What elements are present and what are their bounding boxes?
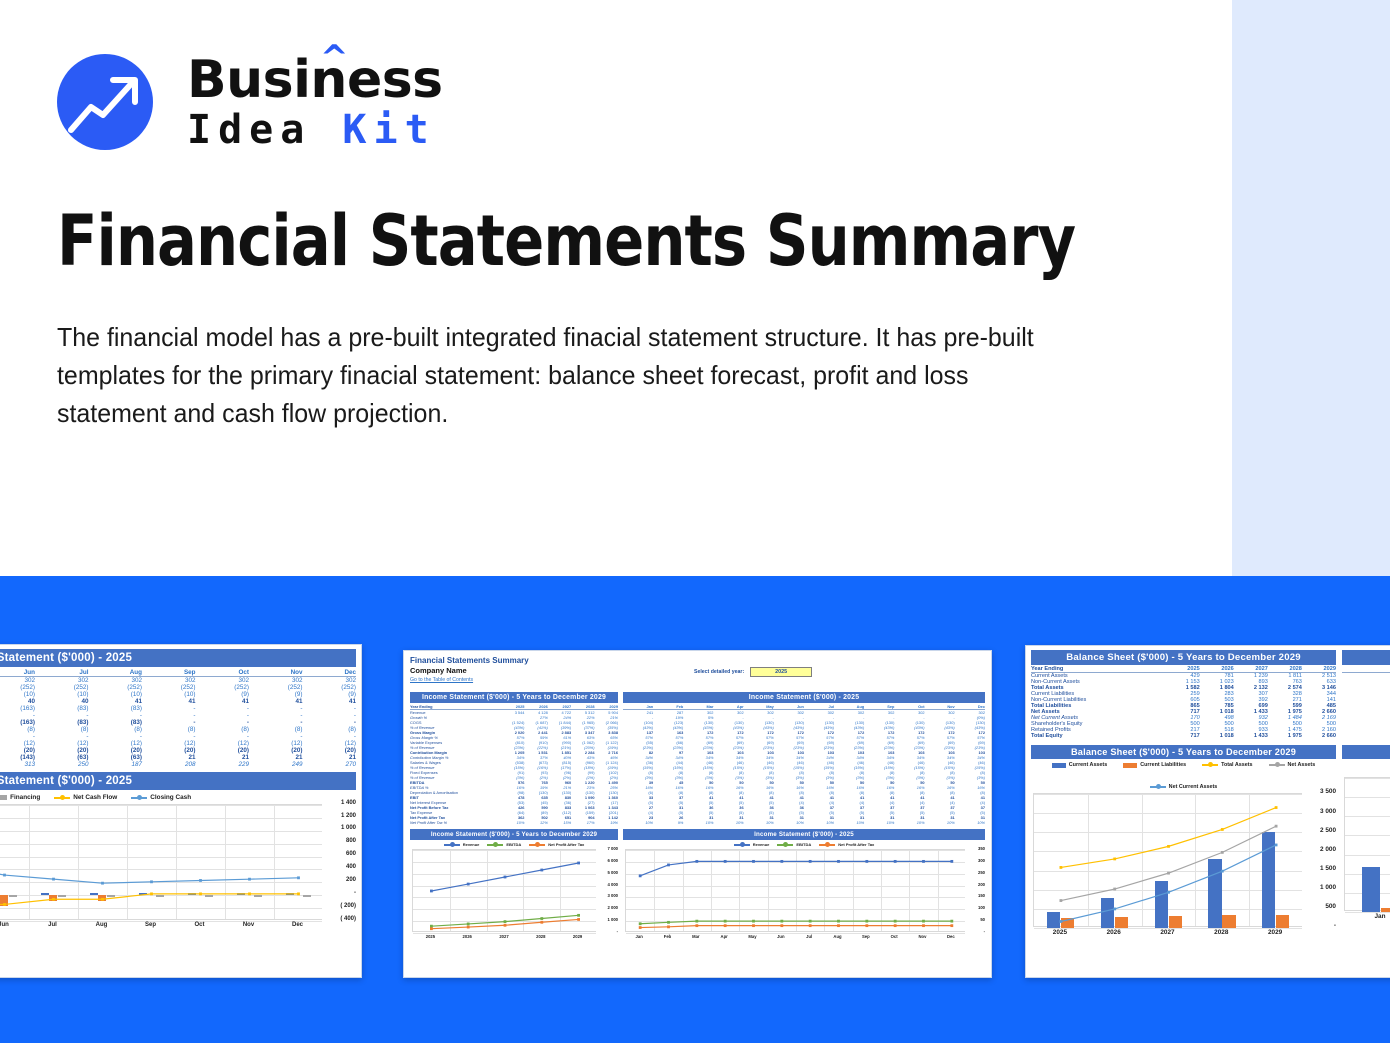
legend-item: Current Liabilities [1123,762,1186,768]
table-row: 456313250187208229249270 [0,761,356,768]
table-cell: 10% [501,820,524,825]
table-cell: 10% [955,820,985,825]
table-cell: (9) [249,691,303,698]
table-cell: (143) [0,754,35,761]
year-selector-label: Select detailed year: [694,669,744,675]
chart-x-tick: Jul [795,934,823,939]
page-description: The financial model has a pre-built inte… [57,318,1055,432]
table-header-cell: Sep [142,669,196,677]
table-cell: 10% [925,820,955,825]
legend-item: Net Profit After Tax [819,842,874,847]
table-cell: (163) [0,705,35,712]
chart-y-tick: 3 000 [599,893,618,898]
table-cell: - [0,712,35,719]
chart-x-tick: 2026 [1087,929,1141,936]
chart-x-tick: Jun [767,934,795,939]
table-cell: 1 975 [1268,733,1302,739]
chart-y-tick: 1 200 [325,813,356,819]
table-cell: (252) [89,684,143,691]
table-row: (21)(20)(20)(20)(20)(20)(20)(20) [0,747,356,754]
table-cell: - [303,733,357,740]
legend-label: Net Profit After Tax [548,842,584,847]
chart-y-tick: 50 [968,917,985,922]
brand-word-idea: Idea [187,107,311,153]
table-cell: 17% [571,820,594,825]
chart-plot-area [412,849,596,932]
chart-x-tick: 2029 [1248,929,1302,936]
table-cell: 10% [683,820,713,825]
legend-label: Revenue [753,842,770,847]
chart-y-tick: ( 400) [325,916,356,922]
table-header-cell: Jun [0,669,35,677]
legend-item: Net Assets [1269,762,1316,768]
legend-swatch [1269,764,1285,766]
table-cell: (9) [303,691,357,698]
legend-item: Total Assets [1202,762,1252,768]
table-cell: (12) [35,740,89,747]
chart-y-tick: 3 000 [1305,808,1336,815]
hero-section: Business ^ Idea Kit Financial Statements… [0,0,1390,576]
table-cell: (20) [35,747,89,754]
table-cell: (12) [249,740,303,747]
table-cell: (83) [35,705,89,712]
chart-y-tick: - [325,890,356,896]
legend-item: Net Cash Flow [54,794,117,801]
table-row: (13)(12)(12)(12)(12)(12)(12)(12) [0,740,356,747]
chart-y-tick: 200 [325,877,356,883]
table-row: 4340404141414141 [0,698,356,705]
cash-flow-chart: 1 4001 2001 000800600400200-( 200)( 400)… [0,804,356,936]
legend-item: EBITDA [487,842,521,847]
table-cell: (20) [142,747,196,754]
table-header-cell: Nov [249,669,303,677]
table-cell: 19% [595,820,618,825]
table-cell: 21 [196,754,250,761]
table-row: Net Profit After Tax %10%12%15%17%19% [410,820,618,825]
table-cell: 21 [249,754,303,761]
cash-flow-chart-legend: InvestingFinancingNet Cash FlowClosing C… [0,794,356,801]
chart-y-tick: 800 [325,838,356,844]
chart-x-tick: 2027 [1141,929,1195,936]
chart-y-tick: 1 000 [1305,884,1336,891]
table-cell: 10% [894,820,924,825]
table-cell: 21 [142,754,196,761]
year-selector-input[interactable]: 2025 [750,667,812,677]
row-label: Net Profit After Tax % [410,820,501,825]
balance-sheet-table: Year Ending20252026202720282029Current A… [1031,666,1336,739]
legend-item: Net Current Assets [1150,784,1218,790]
table-cell: 229 [196,761,250,768]
table-cell: 313 [0,761,35,768]
balance-sheet-side-chart: Jan [1342,777,1390,927]
chart-x-tick: Sep [126,922,175,928]
table-cell: 40 [35,698,89,705]
legend-swatch [1202,764,1218,766]
income-monthly-chart-legend: RevenueEBITDANet Profit After Tax [623,842,985,847]
balance-sheet-chart: 3 5003 0002 5002 0001 5001 000500-202520… [1031,793,1336,943]
table-cell: - [249,733,303,740]
table-row: 302302302302302302302302 [0,677,356,685]
chart-x-tick: Mar [682,934,710,939]
chart-y-tick: 100 [968,905,985,910]
table-cell: (83) [35,719,89,726]
brand-circumflex-icon: ^ [320,41,348,75]
chart-x-tick: Jan [1344,913,1390,920]
table-cell: (10) [142,691,196,698]
legend-swatch [487,844,503,846]
table-cell: 302 [35,677,89,685]
table-cell: (63) [89,754,143,761]
income-annual-chart: 7 0006 0005 0004 0003 0002 0001 000-2025… [410,849,618,944]
chart-y-tick: 5 000 [599,870,618,875]
chart-plot-area [1344,777,1390,911]
table-cell: 41 [249,698,303,705]
table-cell: (8) [35,726,89,733]
legend-item: EBITDA [777,842,811,847]
hero-accent-panel [1232,0,1390,576]
chart-x-tick: Oct [175,922,224,928]
legend-item: Revenue [734,842,770,847]
table-header-row: MayJunJulAugSepOctNovDec [0,669,356,677]
table-cell: - [142,733,196,740]
income-monthly-chart: 35030025020015010050-JanFebMarAprMayJunJ… [623,849,985,944]
table-cell: - [196,712,250,719]
table-row: -------- [0,712,356,719]
table-cell: 302 [249,677,303,685]
legend-label: EBITDA [506,842,521,847]
table-row: 512 [1342,733,1390,739]
slide-root: Business ^ Idea Kit Financial Statements… [0,0,1390,1043]
table-cell: (252) [196,684,250,691]
table-cell: (12) [196,740,250,747]
legend-swatch [1123,763,1137,768]
table-cell: - [0,733,35,740]
balance-sheet-chart-title: Balance Sheet ($'000) - 5 Years to Decem… [1031,745,1336,759]
income-annual-chart-title: Income Statement ($'000) - 5 Years to De… [410,829,618,840]
table-cell: - [303,719,357,726]
legend-swatch [54,797,70,799]
table-cell: 187 [89,761,143,768]
table-cell: (83) [89,719,143,726]
table-cell: (83) [89,705,143,712]
chart-y-tick: 2 000 [599,905,618,910]
chart-x-tick: 2025 [412,934,449,939]
table-cell: (8) [303,726,357,733]
table-cell: 512 [1342,733,1390,739]
chart-y-tick: 600 [325,851,356,857]
chart-y-tick: 2 500 [1305,827,1336,834]
legend-swatch [529,844,545,846]
table-cell: 40 [0,698,35,705]
table-cell: (20) [303,747,357,754]
table-cell: - [142,712,196,719]
table-header-cell: Jul [35,669,89,677]
table-cell: (20) [0,747,35,754]
brand-logo: Business ^ Idea Kit [57,54,443,150]
table-cell: 10% [834,820,864,825]
chart-y-tick: 4 000 [599,882,618,887]
table-cell: 15% [548,820,571,825]
growth-arrow-icon [57,54,153,150]
chart-x-tick: Feb [653,934,681,939]
table-cell: 302 [142,677,196,685]
table-cell: 10% [744,820,774,825]
legend-label: Net Assets [1288,762,1316,768]
table-cell: 2 660 [1302,733,1336,739]
table-cell: (8) [249,726,303,733]
chart-y-tick: - [968,929,985,934]
table-cell: 302 [89,677,143,685]
table-cell: (163) [0,719,35,726]
legend-item: Current Assets [1052,762,1107,768]
legend-label: Net Current Assets [1169,784,1218,790]
legend-label: Total Assets [1221,762,1252,768]
chart-x-tick: Aug [823,934,851,939]
chart-y-tick: 400 [325,864,356,870]
table-cell: - [35,712,89,719]
table-cell: 270 [303,761,357,768]
brand-name-top: Business ^ [187,54,443,106]
legend-label: Financing [10,794,40,801]
chart-y-tick: 200 [968,882,985,887]
legend-swatch [444,844,460,846]
screenshot-financial-summary[interactable]: Financial Statements Summary Company Nam… [403,650,992,978]
table-cell: (252) [0,684,35,691]
table-of-contents-link[interactable]: Go to the Table of Contents [410,677,985,683]
legend-swatch [734,844,750,846]
chart-y-tick: 1 400 [325,800,356,806]
chart-x-tick: Aug [77,922,126,928]
table-cell: 208 [142,761,196,768]
legend-label: Net Cash Flow [73,794,117,801]
chart-y-tick: 500 [1305,903,1336,910]
chart-y-tick: 2 000 [1305,846,1336,853]
table-header-cell: Dec [303,669,357,677]
table-cell: 10% [713,820,743,825]
chart-y-tick: ( 200) [325,903,356,909]
chart-x-tick: Apr [710,934,738,939]
chart-x-tick: Jan [625,934,653,939]
table-cell: - [142,705,196,712]
table-header-cell: Oct [196,669,250,677]
table-cell: 302 [303,677,357,685]
chart-y-tick: 350 [968,846,985,851]
table-cell: 41 [142,698,196,705]
table-row: (141)(143)(63)(63)21212121 [0,754,356,761]
table-cell: (20) [249,747,303,754]
legend-label: Current Liabilities [1140,762,1186,768]
legend-swatch [1150,786,1166,788]
chart-x-tick: Dec [273,922,322,928]
table-cell: - [196,705,250,712]
chart-x-tick: Sep [852,934,880,939]
chart-y-tick: 6 000 [599,858,618,863]
table-cell: 10% [774,820,804,825]
legend-swatch [777,844,793,846]
chart-y-tick: - [1305,922,1336,929]
income-monthly-table-title: Income Statement ($'000) - 2025 [623,692,985,703]
brand-word-kit: Kit [342,107,435,153]
table-cell: 10% [864,820,894,825]
chart-x-tick: Nov [224,922,273,928]
income-monthly-table: JanFebMarAprMayJunJulAugSepOctNovDec2412… [623,704,985,825]
chart-x-tick: Jul [28,922,77,928]
table-cell: 1 018 [1200,733,1234,739]
chart-x-tick: Jun [0,922,28,928]
table-cell: - [196,719,250,726]
balance-sheet-table-title: Balance Sheet ($'000) - 5 Years to Decem… [1031,650,1336,665]
chart-x-tick: 2025 [1033,929,1087,936]
cash-flow-table: MayJunJulAugSepOctNovDec3023023023023023… [0,669,356,768]
screenshot-balance-sheet[interactable]: Balance Sheet ($'000) - 5 Years to Decem… [1025,645,1390,978]
table-cell: (252) [142,684,196,691]
chart-y-tick: 1 000 [325,825,356,831]
table-cell: 21 [303,754,357,761]
table-row: -------- [0,733,356,740]
chart-y-tick: 1 000 [599,917,618,922]
chart-y-tick: 7 000 [599,846,618,851]
table-cell: (12) [0,740,35,747]
table-row: (163)(163)(83)(83)---- [0,705,356,712]
table-cell: (10) [89,691,143,698]
table-cell: (252) [249,684,303,691]
table-cell: (8) [0,726,35,733]
balance-sheet-side-table: Jan1 1741241 297936927865121 08150012512 [1342,666,1390,739]
row-label: Total Equity [1031,733,1166,739]
cash-flow-table-title: Cash Flow Statement ($'000) - 2025 [0,649,356,667]
table-cell: (9) [196,691,250,698]
chart-x-tick: 2028 [522,934,559,939]
legend-item: Financing [0,794,40,801]
chart-x-tick: 2029 [559,934,596,939]
legend-item: Net Profit After Tax [529,842,584,847]
chart-plot-area [1033,793,1302,927]
table-cell: (8) [89,726,143,733]
table-cell: 302 [196,677,250,685]
legend-item: Revenue [444,842,480,847]
table-row: (10)(10)(10)(10)(10)(9)(9)(9) [0,691,356,698]
table-cell: - [303,712,357,719]
income-annual-table: Year Ending20252026202720282029Revenue3 … [410,704,618,825]
table-row: (8)(8)(8)(8)(8)(8)(8)(8) [0,726,356,733]
income-annual-table-title: Income Statement ($'000) - 5 Years to De… [410,692,618,703]
table-row: 10%9%10%10%10%10%10%10%10%10%10%10% [623,820,985,825]
table-row: (249)(252)(252)(252)(252)(252)(252)(252) [0,684,356,691]
legend-label: Closing Cash [150,794,191,801]
cash-flow-chart-title: Cash Flow Statement ($'000) - 2025 [0,772,356,790]
table-cell: 249 [249,761,303,768]
chart-plot-area [0,804,322,920]
table-cell: - [89,712,143,719]
table-cell: 41 [303,698,357,705]
table-cell: (252) [35,684,89,691]
chart-y-tick: 1 500 [1305,865,1336,872]
table-cell: (10) [35,691,89,698]
chart-plot-area [625,849,965,932]
income-monthly-chart-title: Income Statement ($'000) - 2025 [623,829,985,840]
table-cell: - [249,719,303,726]
chart-x-tick: 2028 [1194,929,1248,936]
page-title: Financial Statements Summary [57,200,1091,282]
legend-label: Net Profit After Tax [838,842,874,847]
table-cell: (12) [142,740,196,747]
table-cell: - [249,712,303,719]
chart-y-tick: 250 [968,870,985,875]
table-cell: (20) [196,747,250,754]
chart-x-tick: Oct [880,934,908,939]
legend-label: Revenue [463,842,480,847]
chart-x-tick: May [738,934,766,939]
table-cell: 10% [623,820,653,825]
summary-heading: Financial Statements Summary [410,656,985,665]
chart-y-tick: 3 500 [1305,788,1336,795]
table-cell: 41 [89,698,143,705]
chart-y-tick: - [599,929,618,934]
table-cell: 250 [35,761,89,768]
income-annual-chart-legend: RevenueEBITDANet Profit After Tax [410,842,618,847]
brand-name-bottom: Idea Kit [187,110,443,150]
legend-label: Current Assets [1069,762,1107,768]
table-cell: 10% [804,820,834,825]
legend-swatch [1052,763,1066,768]
chart-x-tick: 2027 [486,934,523,939]
chart-y-tick: 150 [968,893,985,898]
brand-word-business: Business [187,50,443,110]
table-cell: (10) [0,691,35,698]
legend-swatch [131,797,147,799]
legend-label: EBITDA [796,842,811,847]
table-cell: (8) [142,726,196,733]
table-cell: 41 [196,698,250,705]
table-cell: (12) [303,740,357,747]
table-cell: (63) [35,754,89,761]
legend-swatch [0,795,7,800]
table-cell: 302 [0,677,35,685]
table-cell: (252) [303,684,357,691]
table-row: (163)(163)(83)(83)---- [0,719,356,726]
table-cell: (8) [196,726,250,733]
legend-item: Closing Cash [131,794,191,801]
table-cell: - [303,705,357,712]
screenshot-cash-flow[interactable]: Cash Flow Statement ($'000) - 2025 MayJu… [0,644,362,978]
chart-y-tick: 300 [968,858,985,863]
table-cell: 9% [653,820,683,825]
table-cell: (20) [89,747,143,754]
table-cell: - [35,733,89,740]
balance-sheet-chart-legend: Current AssetsCurrent LiabilitiesTotal A… [1031,762,1336,790]
chart-x-tick: Dec [937,934,965,939]
chart-x-tick: Nov [908,934,936,939]
table-cell: - [89,733,143,740]
table-cell: - [196,733,250,740]
chart-x-tick: 2026 [449,934,486,939]
table-cell: (12) [89,740,143,747]
table-header-cell: Aug [89,669,143,677]
table-cell: 1 433 [1234,733,1268,739]
legend-swatch [819,844,835,846]
table-cell: - [142,719,196,726]
table-row: Total Equity7171 0181 4331 9752 660 [1031,733,1336,739]
table-cell: - [249,705,303,712]
table-cell: 717 [1166,733,1200,739]
table-cell: 12% [524,820,547,825]
